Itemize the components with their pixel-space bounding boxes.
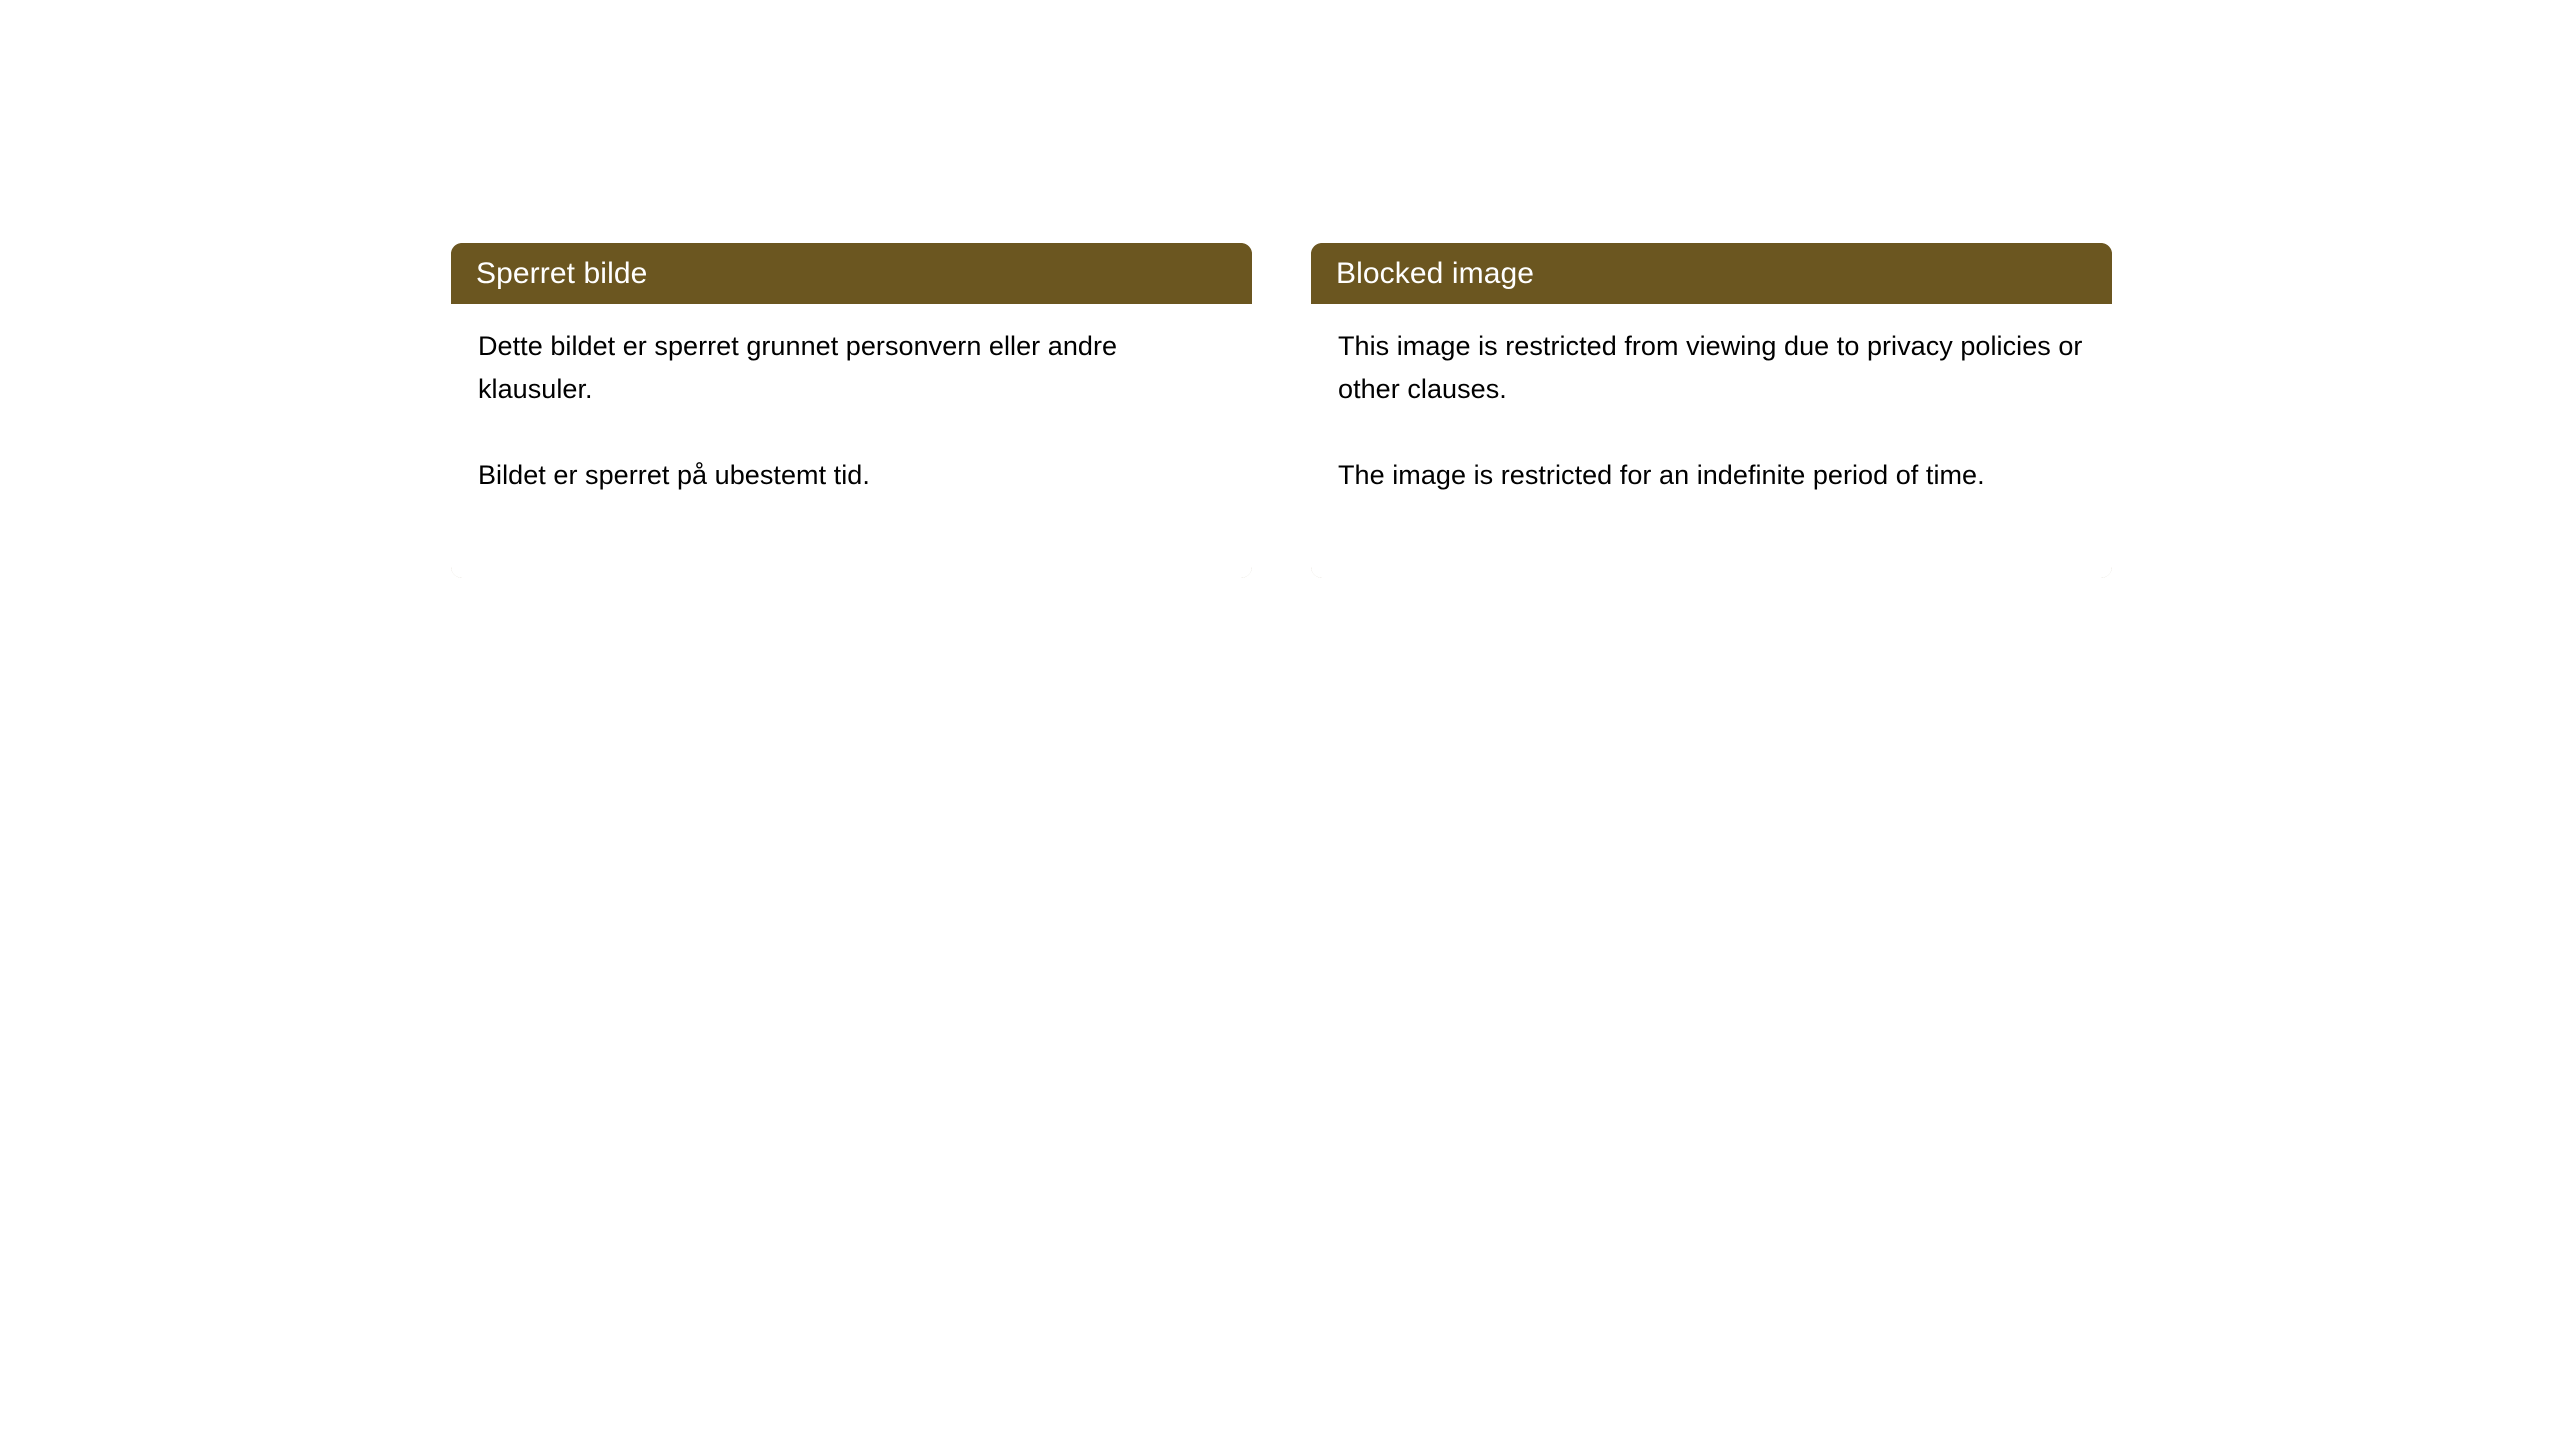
panel-body-norwegian: Dette bildet er sperret grunnet personve… (451, 304, 1252, 578)
notice-paragraph-duration: Bildet er sperret på ubestemt tid. (478, 454, 1226, 497)
panel-body-english: This image is restricted from viewing du… (1311, 304, 2112, 578)
panel-header-english: Blocked image (1311, 243, 2112, 304)
blocked-image-panel-norwegian: Sperret bilde Dette bildet er sperret gr… (451, 243, 1252, 578)
page-title-english: Blocked image (1336, 259, 1534, 289)
blocked-image-panel-english: Blocked image This image is restricted f… (1311, 243, 2112, 578)
panel-header-norwegian: Sperret bilde (451, 243, 1252, 304)
page-title: Sperret bilde (476, 259, 647, 289)
notice-paragraph-duration-english: The image is restricted for an indefinit… (1338, 454, 2086, 497)
notice-paragraph-reason: Dette bildet er sperret grunnet personve… (478, 325, 1226, 411)
notice-paragraph-reason-english: This image is restricted from viewing du… (1338, 325, 2086, 411)
blocked-image-notice-group: Sperret bilde Dette bildet er sperret gr… (451, 243, 2112, 578)
